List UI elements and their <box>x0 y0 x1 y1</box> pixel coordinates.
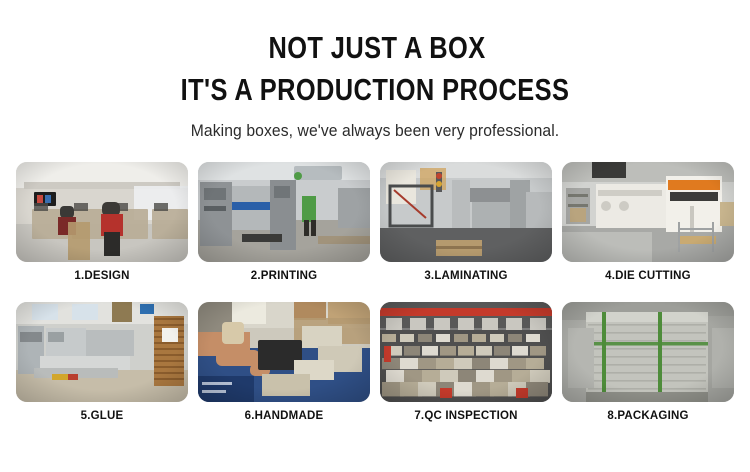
process-step-caption: 1.DESIGN <box>11 270 193 282</box>
process-step-caption: 6.HANDMADE <box>193 410 375 422</box>
header: NOT JUST A BOX IT'S A PRODUCTION PROCESS… <box>0 0 750 141</box>
process-step-caption: 7.QC INSPECTION <box>375 410 557 422</box>
process-step-caption: 4.DIE CUTTING <box>557 270 739 282</box>
laminating-machine-photo <box>380 162 552 262</box>
process-step-caption: 2.PRINTING <box>193 270 375 282</box>
gluing-machine-photo <box>16 302 188 402</box>
process-step-4: 4.DIE CUTTING <box>557 162 739 302</box>
printing-press-photo <box>198 162 370 262</box>
qc-inspection-warehouse-photo <box>380 302 552 402</box>
process-step-8: 8.PACKAGING <box>557 302 739 442</box>
process-step-6: 6.HANDMADE <box>193 302 375 442</box>
subheadline: Making boxes, we've always been very pro… <box>19 122 732 141</box>
die-cutting-machine-photo <box>562 162 734 262</box>
process-steps-grid: 1.DESIGN 2.PRINTING 3.LAMINATING 4.DIE C… <box>11 162 739 442</box>
packaging-pallets-photo <box>562 302 734 402</box>
handmade-assembly-photo <box>198 302 370 402</box>
process-step-caption: 8.PACKAGING <box>557 410 739 422</box>
process-step-5: 5.GLUE <box>11 302 193 442</box>
process-step-7: 7.QC INSPECTION <box>375 302 557 442</box>
process-step-caption: 5.GLUE <box>11 410 193 422</box>
process-step-2: 2.PRINTING <box>193 162 375 302</box>
headline-line-2: IT'S A PRODUCTION PROCESS <box>68 70 683 110</box>
headline-line-1: NOT JUST A BOX <box>71 28 683 68</box>
process-step-3: 3.LAMINATING <box>375 162 557 302</box>
process-step-1: 1.DESIGN <box>11 162 193 302</box>
design-office-photo <box>16 162 188 262</box>
process-step-caption: 3.LAMINATING <box>375 270 557 282</box>
process-infographic-page: NOT JUST A BOX IT'S A PRODUCTION PROCESS… <box>0 0 750 472</box>
